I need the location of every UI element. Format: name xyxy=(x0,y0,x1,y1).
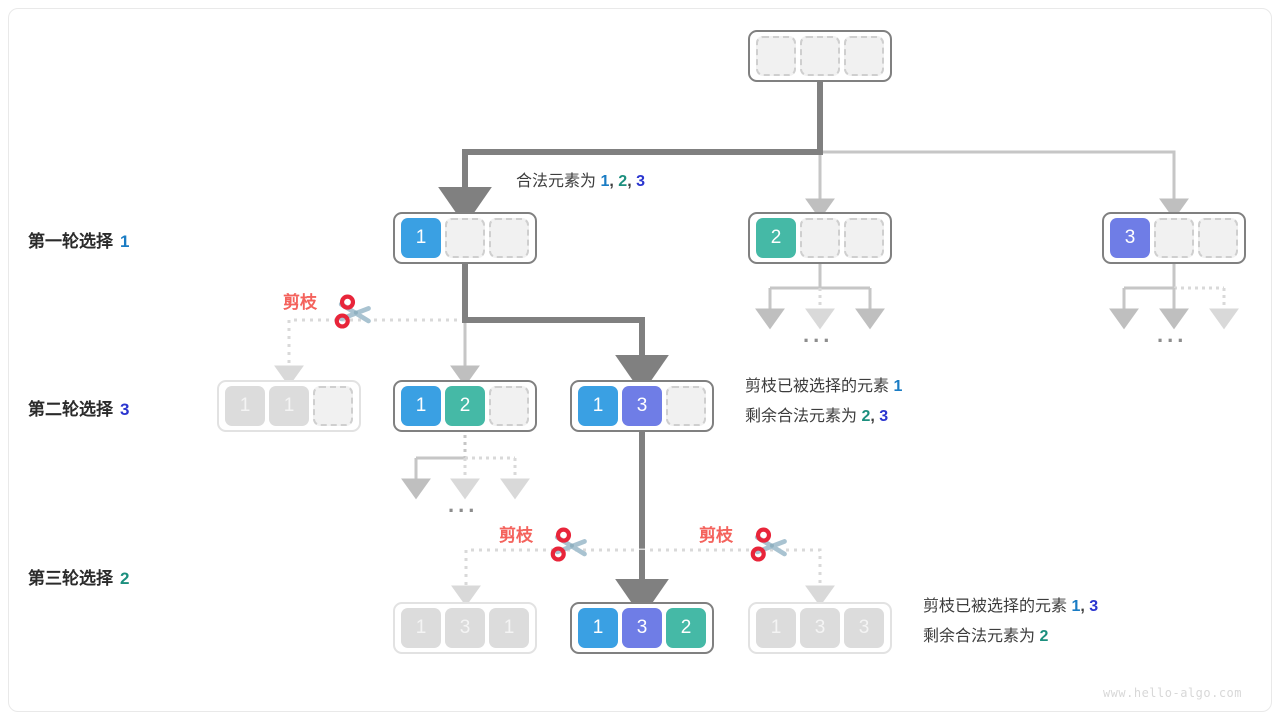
note-line: 剪枝已被选择的元素 1 xyxy=(745,372,902,402)
row-label-text: 第三轮选择 xyxy=(28,569,113,588)
cell: 1 xyxy=(401,386,441,426)
scissors-icon-level3-right xyxy=(753,530,785,560)
note-text: 剩余合法元素为 xyxy=(745,408,857,425)
cell: 1 xyxy=(401,218,441,258)
note-text: 合法元素为 xyxy=(516,173,596,190)
cell xyxy=(489,218,529,258)
cell xyxy=(1198,218,1238,258)
node-level2-pruned-11[interactable]: 1 1 xyxy=(217,380,361,432)
row-label-text: 第二轮选择 xyxy=(28,400,113,419)
note-value: 1 xyxy=(893,378,902,395)
row-label-round-2: 第二轮选择3 xyxy=(28,395,129,420)
node-level1-1[interactable]: 1 xyxy=(393,212,537,264)
ellipsis-node3: ... xyxy=(1157,322,1187,348)
cell: 3 xyxy=(622,608,662,648)
cell xyxy=(445,218,485,258)
note-value: 2 xyxy=(1039,628,1048,645)
cell: 2 xyxy=(666,608,706,648)
note-text: 剪枝已被选择的元素 xyxy=(745,378,889,395)
note-value: 3 xyxy=(879,408,888,425)
scissors-icon-level2 xyxy=(337,297,369,327)
cell: 1 xyxy=(756,608,796,648)
watermark: www.hello-algo.com xyxy=(1103,686,1242,700)
note-value: 3 xyxy=(636,173,645,190)
row-label-value: 3 xyxy=(120,400,129,419)
cell xyxy=(800,218,840,258)
note-value: 3 xyxy=(1089,598,1098,615)
prune-label-level3-right: 剪枝 xyxy=(699,521,733,546)
cell: 1 xyxy=(578,386,618,426)
node-level2-13[interactable]: 1 3 xyxy=(570,380,714,432)
node-level3-132[interactable]: 1 3 2 xyxy=(570,602,714,654)
node-level1-2[interactable]: 2 xyxy=(748,212,892,264)
cell: 3 xyxy=(1110,218,1150,258)
note-line: 剩余合法元素为 2 xyxy=(923,622,1098,652)
cell xyxy=(489,386,529,426)
row-label-value: 2 xyxy=(120,569,129,588)
note-value: 2 xyxy=(618,173,627,190)
note-level3-pruning: 剪枝已被选择的元素 1, 3 剩余合法元素为 2 xyxy=(923,592,1098,652)
edge-node2-children xyxy=(770,258,870,315)
cell: 2 xyxy=(756,218,796,258)
row-label-text: 第一轮选择 xyxy=(28,232,113,251)
ellipsis-node12: ... xyxy=(448,492,478,518)
cell: 1 xyxy=(225,386,265,426)
note-text: 剩余合法元素为 xyxy=(923,628,1035,645)
ellipsis-node2: ... xyxy=(803,322,833,348)
cell: 1 xyxy=(489,608,529,648)
scissors-icon-level3-left xyxy=(553,530,585,560)
cell: 1 xyxy=(578,608,618,648)
cell: 3 xyxy=(844,608,884,648)
cell xyxy=(844,36,884,76)
row-label-round-3: 第三轮选择2 xyxy=(28,564,129,589)
cell: 1 xyxy=(269,386,309,426)
edge-node12-children xyxy=(416,428,515,485)
edge-level2-to-level3 xyxy=(466,428,820,592)
note-text: 剪枝已被选择的元素 xyxy=(923,598,1067,615)
cell xyxy=(800,36,840,76)
node-level2-12[interactable]: 1 2 xyxy=(393,380,537,432)
cell xyxy=(666,386,706,426)
cell: 3 xyxy=(445,608,485,648)
node-level3-pruned-133[interactable]: 1 3 3 xyxy=(748,602,892,654)
edge-node3-children xyxy=(1124,258,1224,315)
cell xyxy=(313,386,353,426)
cell xyxy=(1154,218,1194,258)
cell: 2 xyxy=(445,386,485,426)
cell: 3 xyxy=(622,386,662,426)
note-line: 剪枝已被选择的元素 1, 3 xyxy=(923,592,1098,622)
cell: 3 xyxy=(800,608,840,648)
cell: 1 xyxy=(401,608,441,648)
node-root[interactable] xyxy=(748,30,892,82)
cell xyxy=(844,218,884,258)
note-legal-elements: 合法元素为 1, 2, 3 xyxy=(516,167,645,197)
prune-label-level3-left: 剪枝 xyxy=(499,521,533,546)
note-level2-pruning: 剪枝已被选择的元素 1 剩余合法元素为 2, 3 xyxy=(745,372,902,432)
node-level1-3[interactable]: 3 xyxy=(1102,212,1246,264)
note-line: 剩余合法元素为 2, 3 xyxy=(745,402,902,432)
node-level3-pruned-131[interactable]: 1 3 1 xyxy=(393,602,537,654)
diagram-canvas: 1 2 3 1 1 1 2 1 3 1 3 1 1 3 2 1 3 xyxy=(0,0,1280,720)
cell xyxy=(756,36,796,76)
prune-label-level2: 剪枝 xyxy=(283,288,317,313)
row-label-value: 1 xyxy=(120,232,129,251)
row-label-round-1: 第一轮选择1 xyxy=(28,227,129,252)
